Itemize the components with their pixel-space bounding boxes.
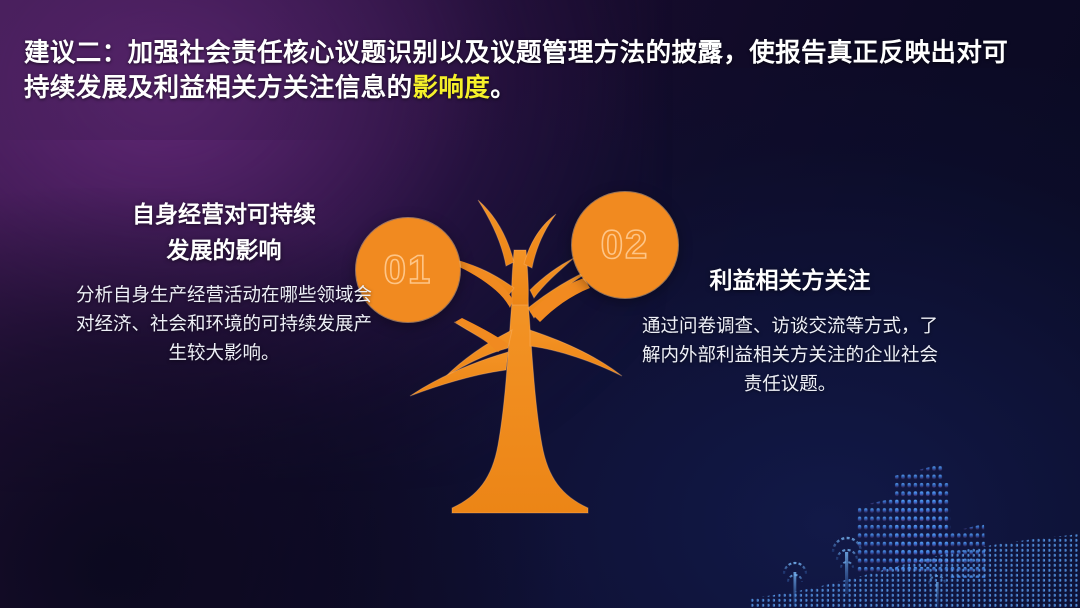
left-heading-line-2: 发展的影响 [74, 232, 374, 268]
slide-canvas: 01 02 建议二：加强社会责任核心议题识别以及议题管理方法的披露，使报告真正反… [0, 0, 1080, 608]
title-line-2-prefix: 持续发展及利益相关方关注信息的 [24, 74, 413, 102]
content-column-right: 利益相关方关注 通过问卷调查、访谈交流等方式，了解内外部利益相关方关注的企业社会… [640, 262, 940, 398]
left-heading: 自身经营对可持续 发展的影响 [74, 196, 374, 268]
left-heading-line-1: 自身经营对可持续 [74, 196, 374, 232]
node-02-number: 02 [601, 223, 650, 268]
title-line-1: 建议二：加强社会责任核心议题识别以及议题管理方法的披露，使报告真正反映出对可 [24, 36, 1064, 71]
right-heading: 利益相关方关注 [640, 262, 940, 298]
title-line-2: 持续发展及利益相关方关注信息的影响度。 [24, 71, 1064, 106]
node-01-number: 01 [384, 248, 433, 293]
title-line-2-suffix: 。 [490, 74, 516, 102]
slide-title: 建议二：加强社会责任核心议题识别以及议题管理方法的披露，使报告真正反映出对可 持… [24, 36, 1064, 106]
content-column-left: 自身经营对可持续 发展的影响 分析自身生产经营活动在哪些领域会对经济、社会和环境… [74, 196, 374, 367]
right-body-text: 通过问卷调查、访谈交流等方式，了解内外部利益相关方关注的企业社会责任议题。 [640, 311, 940, 398]
left-body-text: 分析自身生产经营活动在哪些领域会对经济、社会和环境的可持续发展产生较大影响。 [74, 280, 374, 367]
right-heading-line-1: 利益相关方关注 [640, 262, 940, 298]
title-highlight: 影响度 [413, 74, 491, 102]
